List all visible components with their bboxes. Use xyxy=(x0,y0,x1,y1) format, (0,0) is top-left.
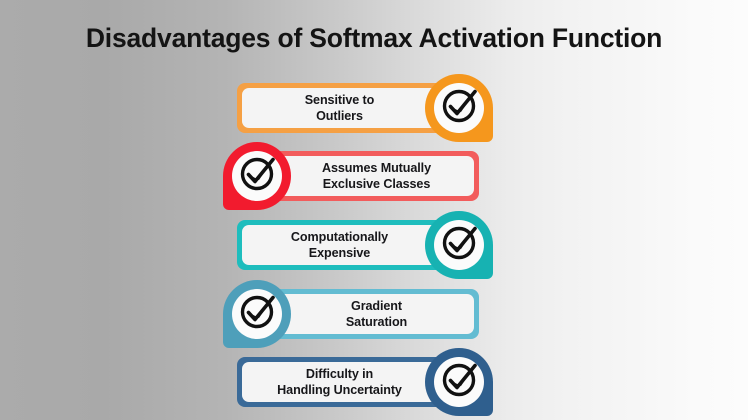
item-panel: Computationally Expensive xyxy=(242,225,437,265)
item-panel: Sensitive to Outliers xyxy=(242,88,437,128)
item-label-line1: Computationally xyxy=(291,230,388,244)
item-label-line2: Exclusive Classes xyxy=(323,177,431,191)
item-label-line1: Gradient xyxy=(351,299,402,313)
item-panel: Assumes Mutually Exclusive Classes xyxy=(279,156,474,196)
item-badge xyxy=(425,74,493,142)
infographic-canvas: Disadvantages of Softmax Activation Func… xyxy=(0,0,748,420)
page-title: Disadvantages of Softmax Activation Func… xyxy=(0,23,748,54)
item-bar: Computationally Expensive xyxy=(237,220,479,270)
check-circle-icon xyxy=(235,290,279,334)
item-label: Difficulty in Handling Uncertainty xyxy=(277,366,402,399)
item-label-line2: Expensive xyxy=(309,246,370,260)
check-circle-icon xyxy=(437,358,481,402)
item-label: Gradient Saturation xyxy=(346,298,407,331)
check-circle-icon xyxy=(437,84,481,128)
item-label: Computationally Expensive xyxy=(291,229,388,262)
item-label-line1: Assumes Mutually xyxy=(322,161,431,175)
item-badge xyxy=(223,280,291,348)
check-circle-icon xyxy=(437,221,481,265)
check-circle-icon xyxy=(235,152,279,196)
list-item[interactable]: Computationally Expensive xyxy=(237,220,479,270)
list-item[interactable]: Assumes Mutually Exclusive Classes xyxy=(237,151,479,201)
item-label-line2: Handling Uncertainty xyxy=(277,383,402,397)
item-bar: Difficulty in Handling Uncertainty xyxy=(237,357,479,407)
item-label-line1: Sensitive to xyxy=(305,93,375,107)
item-label-line2: Saturation xyxy=(346,315,407,329)
item-label-line1: Difficulty in xyxy=(306,367,373,381)
item-label-line2: Outliers xyxy=(316,109,363,123)
item-bar: Assumes Mutually Exclusive Classes xyxy=(237,151,479,201)
item-bar: Gradient Saturation xyxy=(237,289,479,339)
item-panel: Gradient Saturation xyxy=(279,294,474,334)
item-badge xyxy=(223,142,291,210)
item-badge xyxy=(425,211,493,279)
list-item[interactable]: Sensitive to Outliers xyxy=(237,83,479,133)
item-label: Assumes Mutually Exclusive Classes xyxy=(322,160,431,193)
list-item[interactable]: Gradient Saturation xyxy=(237,289,479,339)
item-panel: Difficulty in Handling Uncertainty xyxy=(242,362,437,402)
list-item[interactable]: Difficulty in Handling Uncertainty xyxy=(237,357,479,407)
item-bar: Sensitive to Outliers xyxy=(237,83,479,133)
item-label: Sensitive to Outliers xyxy=(305,92,375,125)
item-badge xyxy=(425,348,493,416)
